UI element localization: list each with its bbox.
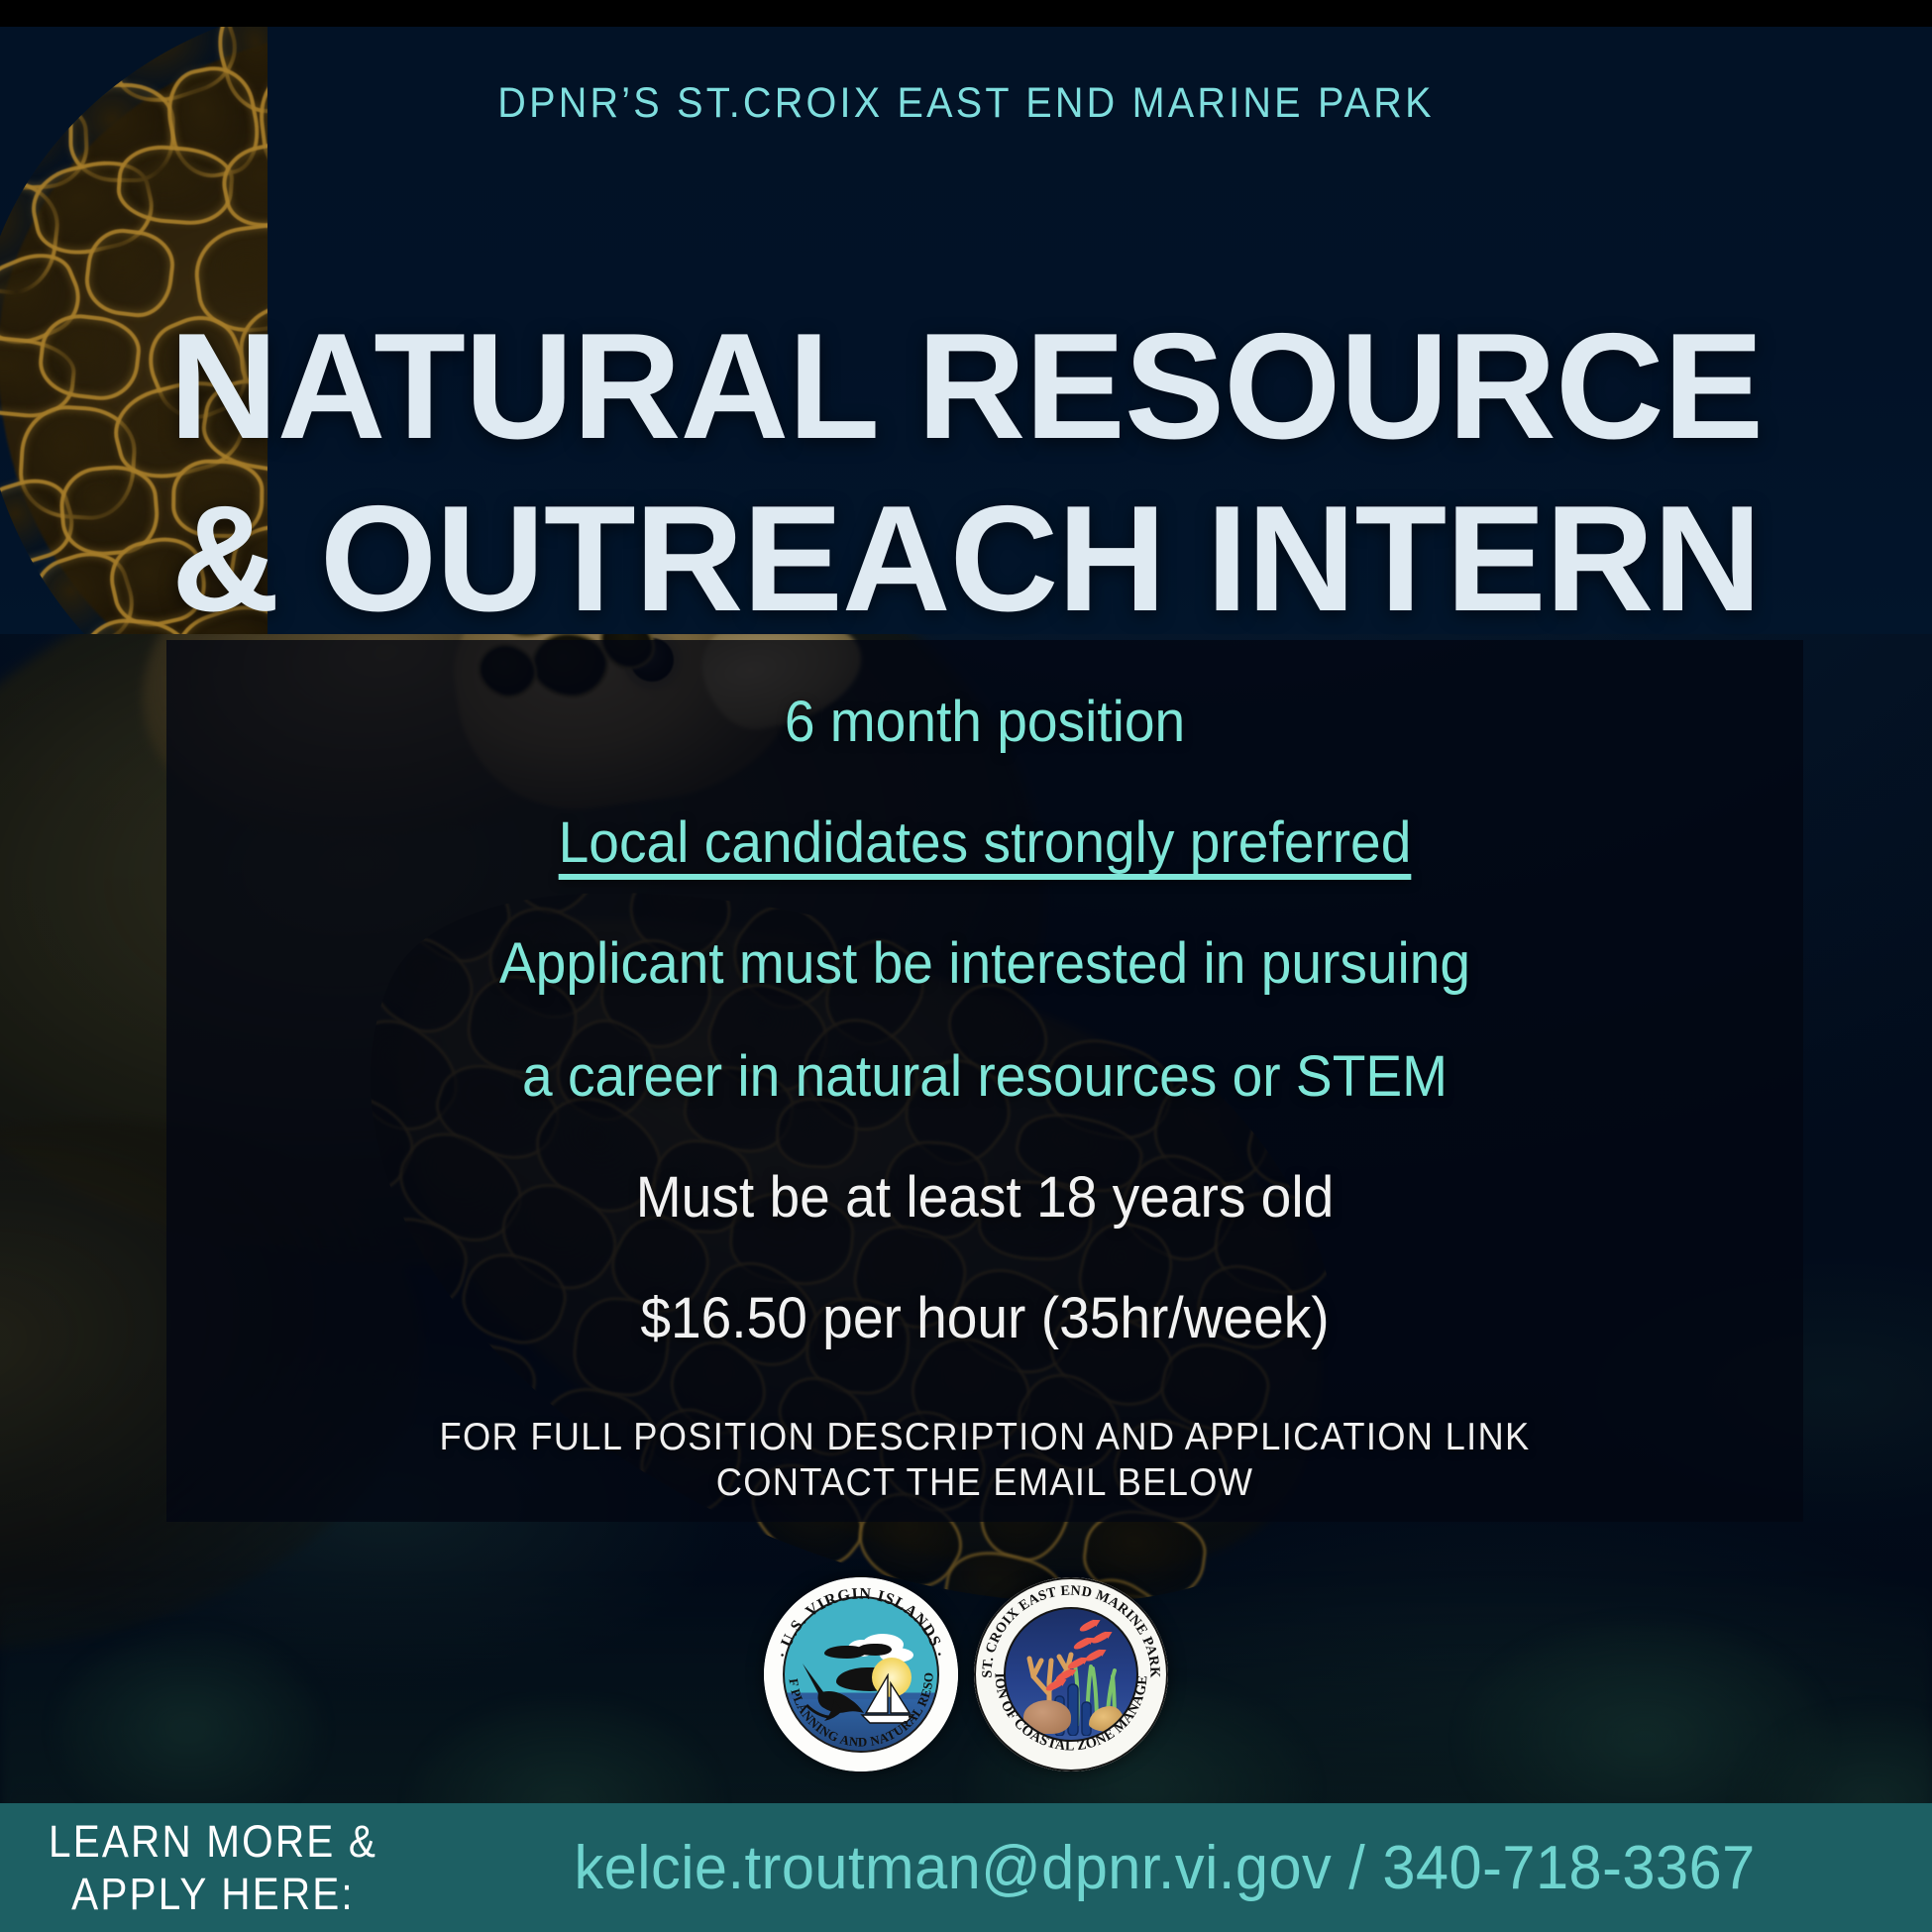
title-line-2: & OUTREACH INTERN (0, 483, 1932, 634)
top-black-strip (0, 0, 1932, 27)
list-item: 6 month position (207, 694, 1762, 751)
dpnr-seal-logo: · U.S. VIRGIN ISLANDS · DEPT. OF PLANNIN… (764, 1577, 958, 1771)
fineprint-note: FOR FULL POSITION DESCRIPTION AND APPLIC… (224, 1415, 1746, 1506)
marine-park-seal-logo: ST. CROIX EAST END MARINE PARK DIVISION … (974, 1577, 1168, 1771)
title-line-1: NATURAL RESOURCE (169, 302, 1763, 471)
eyebrow-organization: DPNR’S ST.CROIX EAST END MARINE PARK (77, 79, 1855, 128)
list-item: $16.50 per hour (35hr/week) (207, 1290, 1762, 1347)
footer-cta-line-1: LEARN MORE & (22, 1815, 405, 1868)
agency-logos: · U.S. VIRGIN ISLANDS · DEPT. OF PLANNIN… (0, 1577, 1932, 1771)
footer-contact-bar: LEARN MORE & APPLY HERE: kelcie.troutman… (0, 1803, 1932, 1932)
list-item: Applicant must be interested in pursuing (207, 935, 1762, 993)
footer-contact-link[interactable]: kelcie.troutman@dpnr.vi.gov / 340-718-33… (456, 1833, 1901, 1903)
seal-ring-text: · U.S. VIRGIN ISLANDS · DEPT. OF PLANNIN… (764, 1577, 958, 1771)
list-item: Must be at least 18 years old (207, 1169, 1762, 1227)
footer-cta-line-2: APPLY HERE: (22, 1868, 405, 1920)
footer-cta-label: LEARN MORE & APPLY HERE: (22, 1815, 405, 1920)
seal-ring-text: ST. CROIX EAST END MARINE PARK DIVISION … (974, 1577, 1168, 1771)
list-item: a career in natural resources or STEM (207, 1048, 1762, 1106)
svg-text:ST. CROIX EAST END MARINE PARK: ST. CROIX EAST END MARINE PARK (980, 1582, 1163, 1677)
requirements-list: 6 month position Local candidates strong… (166, 694, 1803, 1411)
page-title: NATURAL RESOURCE & OUTREACH INTERN (0, 311, 1932, 634)
fineprint-line-1: FOR FULL POSITION DESCRIPTION AND APPLIC… (224, 1415, 1746, 1460)
poster-canvas: DPNR’S ST.CROIX EAST END MARINE PARK NAT… (0, 0, 1932, 1932)
svg-text:· U.S. VIRGIN ISLANDS ·: · U.S. VIRGIN ISLANDS · (774, 1585, 947, 1660)
list-item: Local candidates strongly preferred (207, 814, 1762, 872)
fineprint-line-2: CONTACT THE EMAIL BELOW (224, 1460, 1746, 1506)
